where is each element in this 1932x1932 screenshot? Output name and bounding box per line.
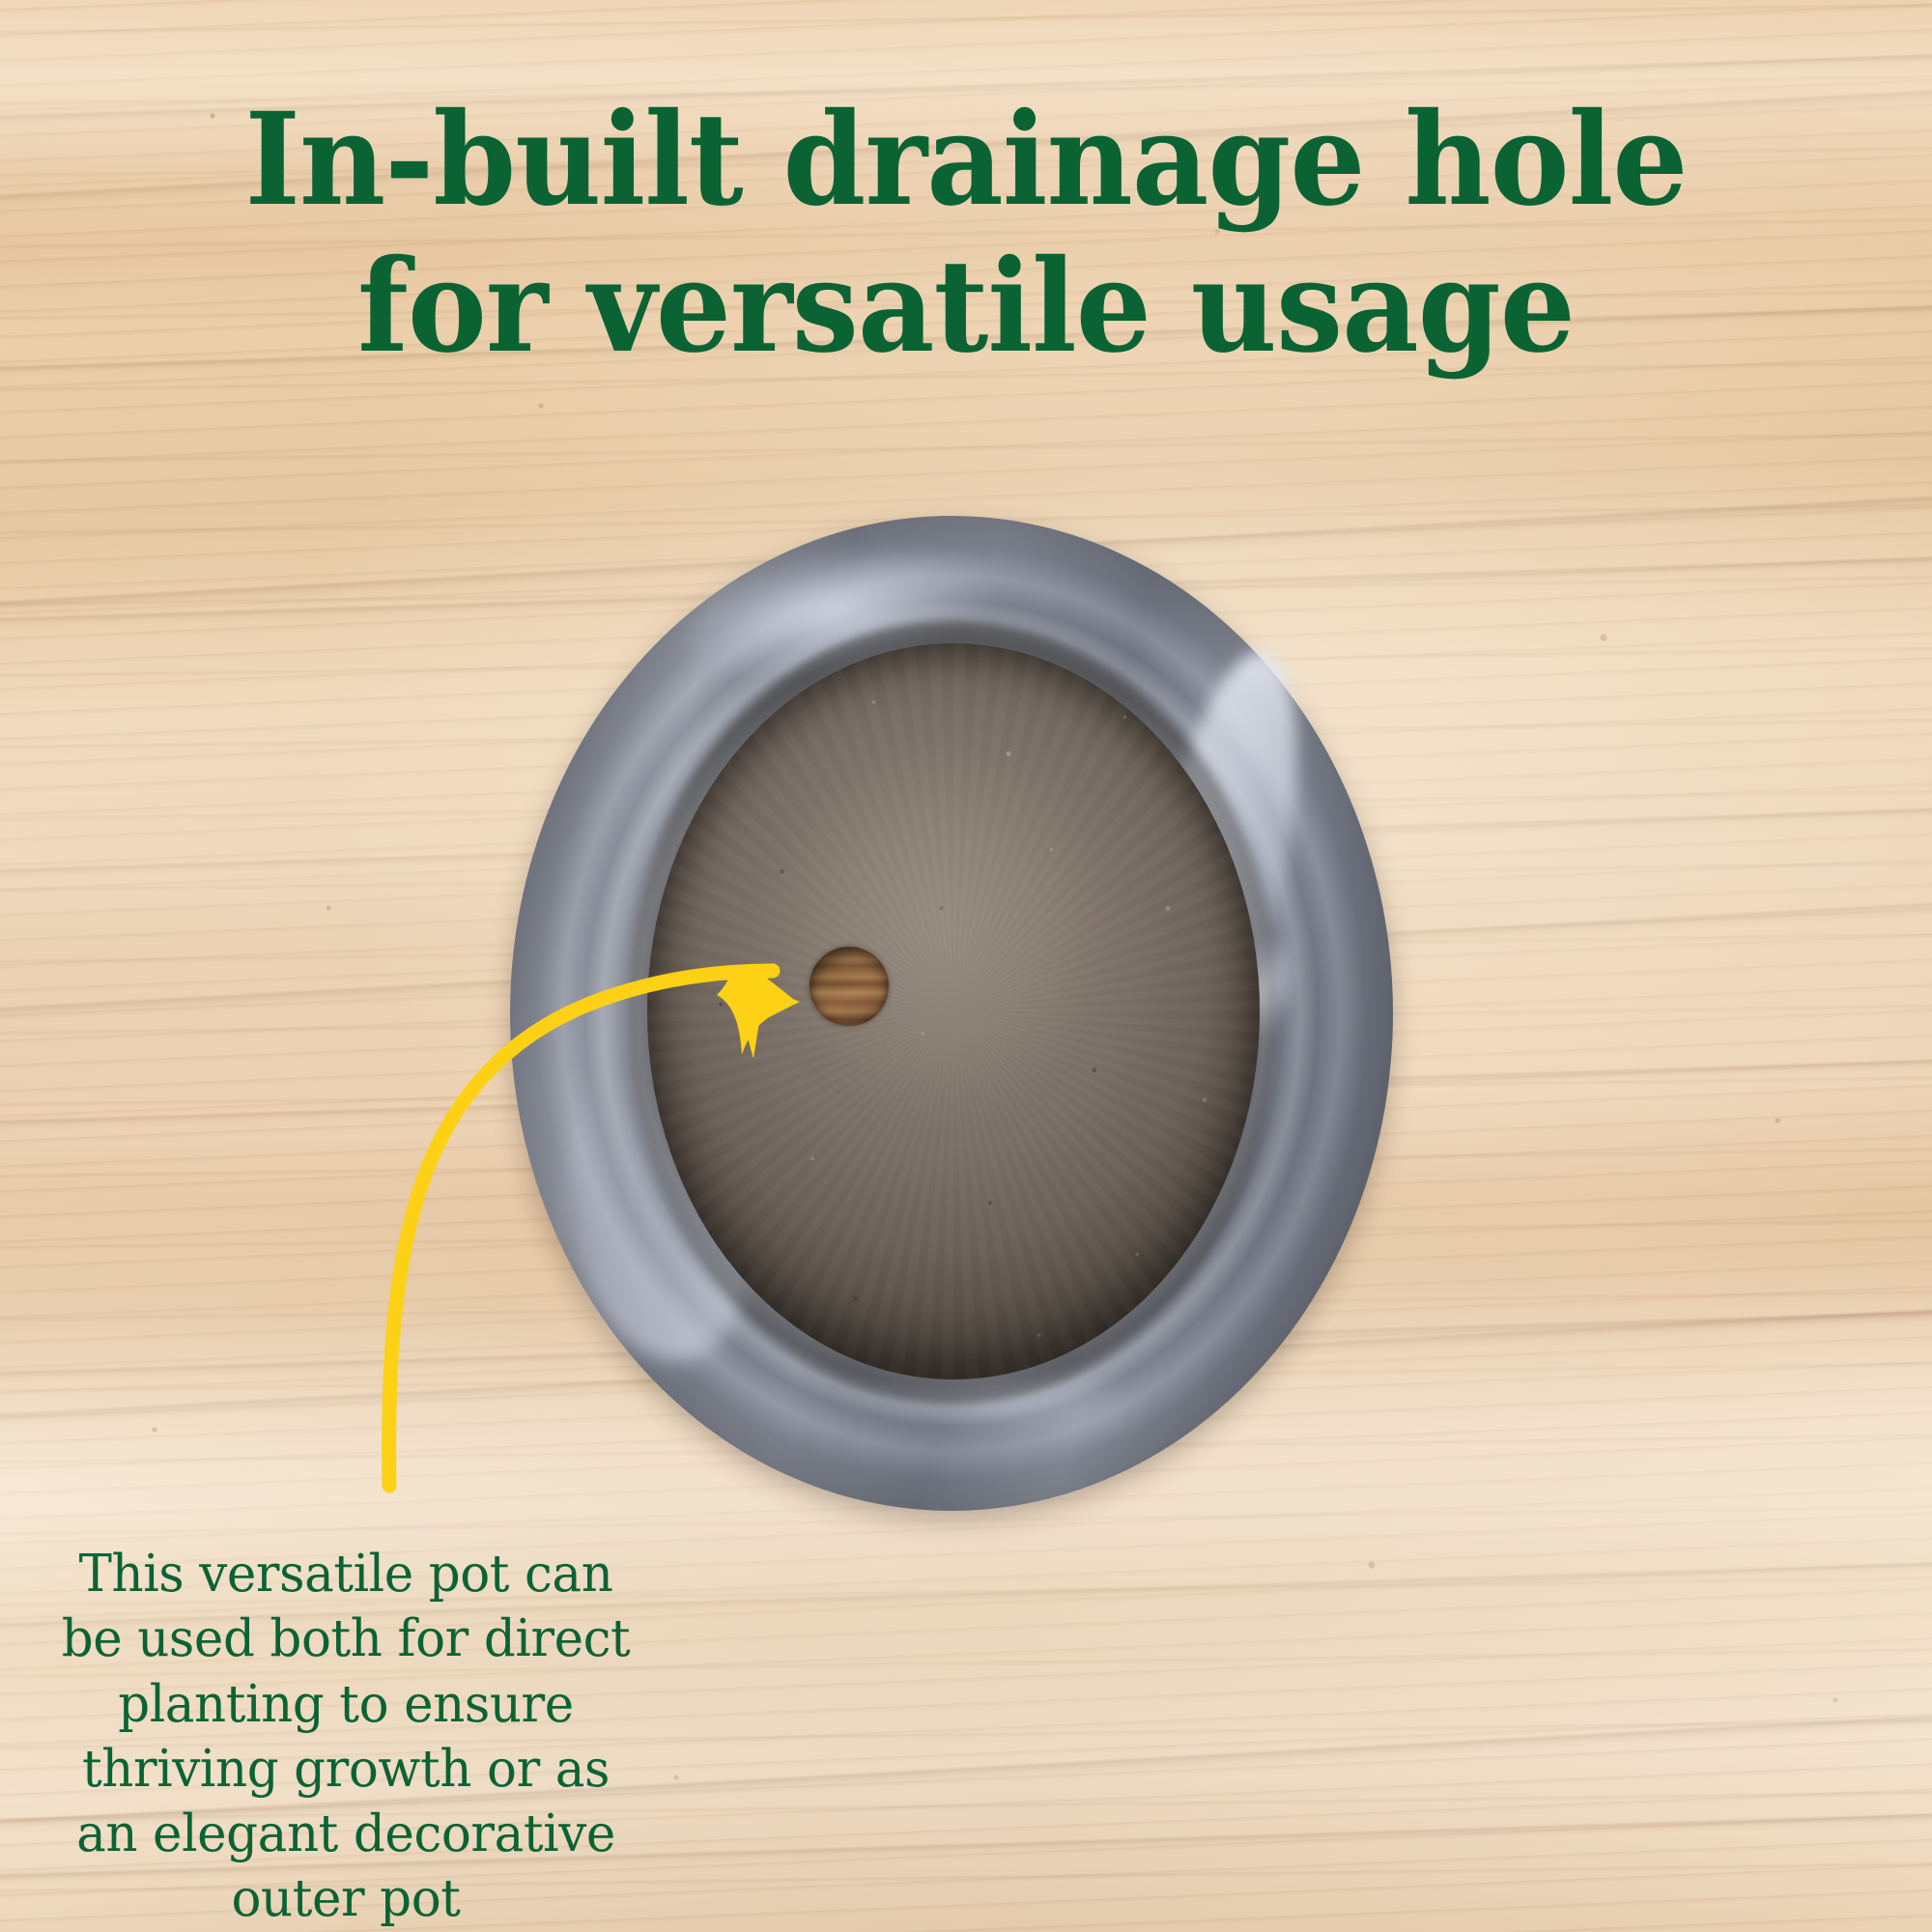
page-title-line-1: In-built drainage hole [244, 85, 1687, 235]
caption-line-5: an elegant decorative [55, 1802, 636, 1866]
drainage-hole [810, 947, 889, 1026]
caption-line-3: planting to ensure [55, 1672, 636, 1737]
pot-interior [647, 643, 1260, 1379]
caption-block: This versatile pot can be used both for … [55, 1542, 636, 1932]
plant-pot [502, 502, 1401, 1526]
caption-line-6: outer pot [55, 1866, 636, 1931]
page-title-line-2: for versatile usage [68, 243, 1864, 371]
pot-interior-speckle [647, 643, 1260, 1379]
caption-line-2: be used both for direct [55, 1606, 636, 1671]
drainage-hole-shadow [810, 947, 889, 1026]
page-title: In-built drainage hole for versatile usa… [68, 97, 1864, 371]
caption-line-4: thriving growth or as [55, 1737, 636, 1802]
product-feature-graphic: In-built drainage hole for versatile usa… [0, 0, 1932, 1932]
caption-line-1: This versatile pot can [55, 1542, 636, 1606]
